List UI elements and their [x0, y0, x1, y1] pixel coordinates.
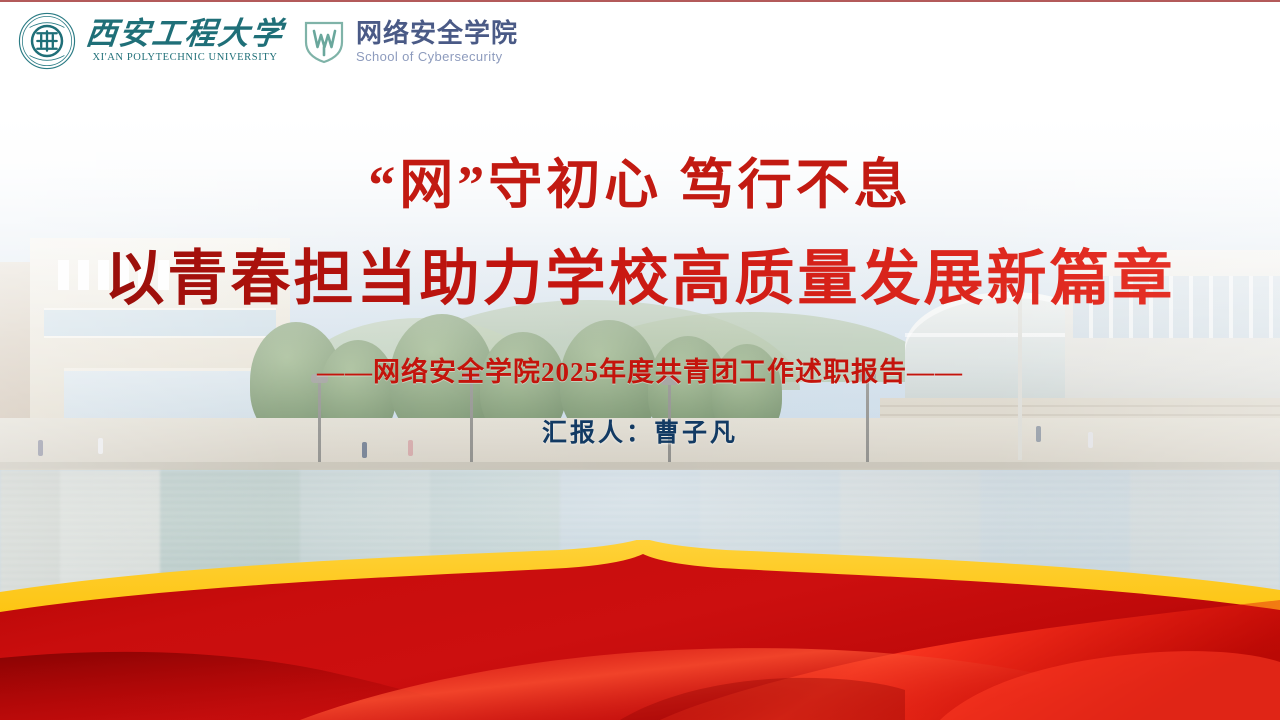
top-rule-divider — [0, 0, 1280, 2]
bottom-silk-ribbon — [0, 540, 1280, 720]
university-seal-icon — [18, 12, 76, 70]
school-name-en: School of Cybersecurity — [356, 50, 518, 63]
logo-bar: 西安工程大学 XI'AN POLYTECHNIC UNIVERSITY 网络安全… — [18, 12, 518, 70]
university-name-block: 西安工程大学 XI'AN POLYTECHNIC UNIVERSITY — [86, 18, 284, 64]
school-name-cn: 网络安全学院 — [356, 20, 518, 46]
cybersecurity-shield-icon — [302, 18, 346, 64]
school-name-block: 网络安全学院 School of Cybersecurity — [356, 20, 518, 63]
university-logo: 西安工程大学 XI'AN POLYTECHNIC UNIVERSITY — [18, 12, 284, 70]
university-name-cn: 西安工程大学 — [84, 18, 285, 49]
presentation-slide: 西安工程大学 XI'AN POLYTECHNIC UNIVERSITY 网络安全… — [0, 0, 1280, 720]
university-name-en: XI'AN POLYTECHNIC UNIVERSITY — [86, 53, 284, 64]
school-logo: 网络安全学院 School of Cybersecurity — [302, 18, 518, 64]
